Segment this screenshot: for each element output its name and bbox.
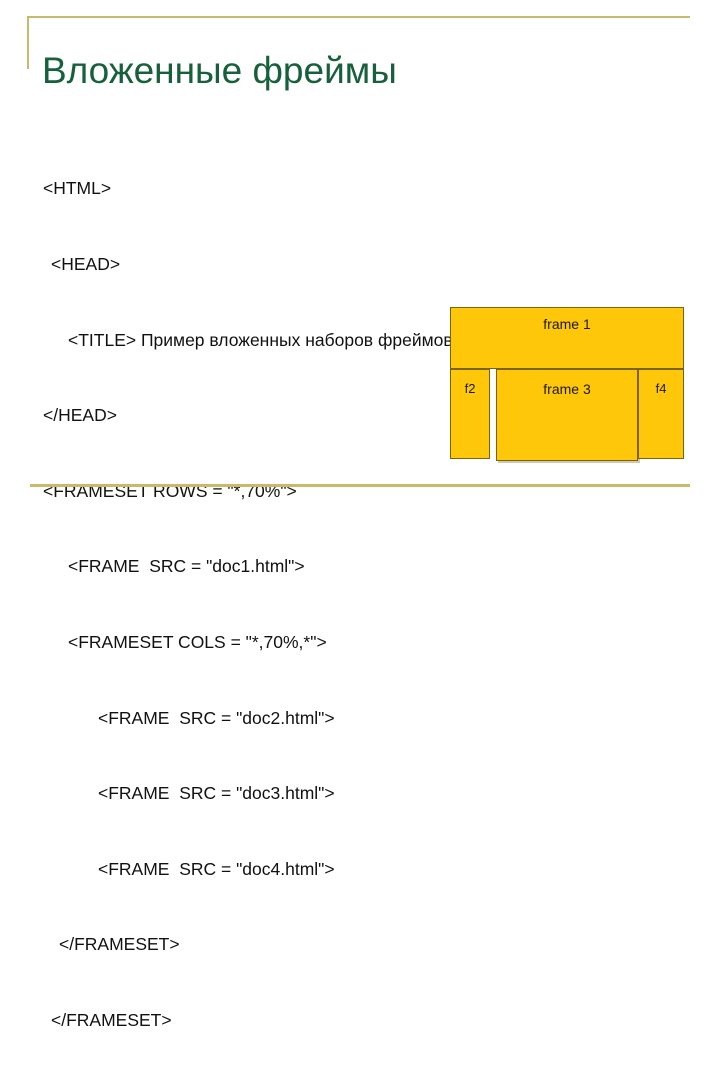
diagram-frame-2: f2	[450, 369, 490, 459]
code-line: </FRAMESET>	[43, 1008, 643, 1033]
code-line: <FRAME SRC = "doc1.html">	[43, 554, 643, 579]
code-line: </FRAMESET>	[43, 932, 643, 957]
diagram-frame-4: f4	[638, 369, 684, 459]
code-line: <HEAD>	[43, 252, 643, 277]
diagram-frame-3: frame 3	[496, 369, 638, 461]
code-line: <FRAME SRC = "doc2.html">	[43, 706, 643, 731]
page-title: Вложенные фреймы	[42, 49, 682, 93]
code-listing: <HTML> <HEAD> <TITLE> Пример вложенных н…	[43, 126, 643, 1080]
code-line: <FRAME SRC = "doc4.html">	[43, 857, 643, 882]
code-line: <FRAMESET COLS = "*,70%,*">	[43, 630, 643, 655]
code-line: <FRAME SRC = "doc3.html">	[43, 781, 643, 806]
left-accent-rule	[27, 16, 29, 69]
bottom-accent-rule	[30, 484, 690, 487]
top-accent-rule	[27, 16, 690, 18]
diagram-frame-1: frame 1	[450, 307, 684, 369]
code-line: <HTML>	[43, 176, 643, 201]
frameset-diagram: frame 1 f2 frame 3 f4	[450, 307, 684, 459]
slide-canvas: Вложенные фреймы <HTML> <HEAD> <TITLE> П…	[0, 0, 720, 540]
code-line: <FRAMESET ROWS = "*,70%">	[43, 479, 643, 504]
